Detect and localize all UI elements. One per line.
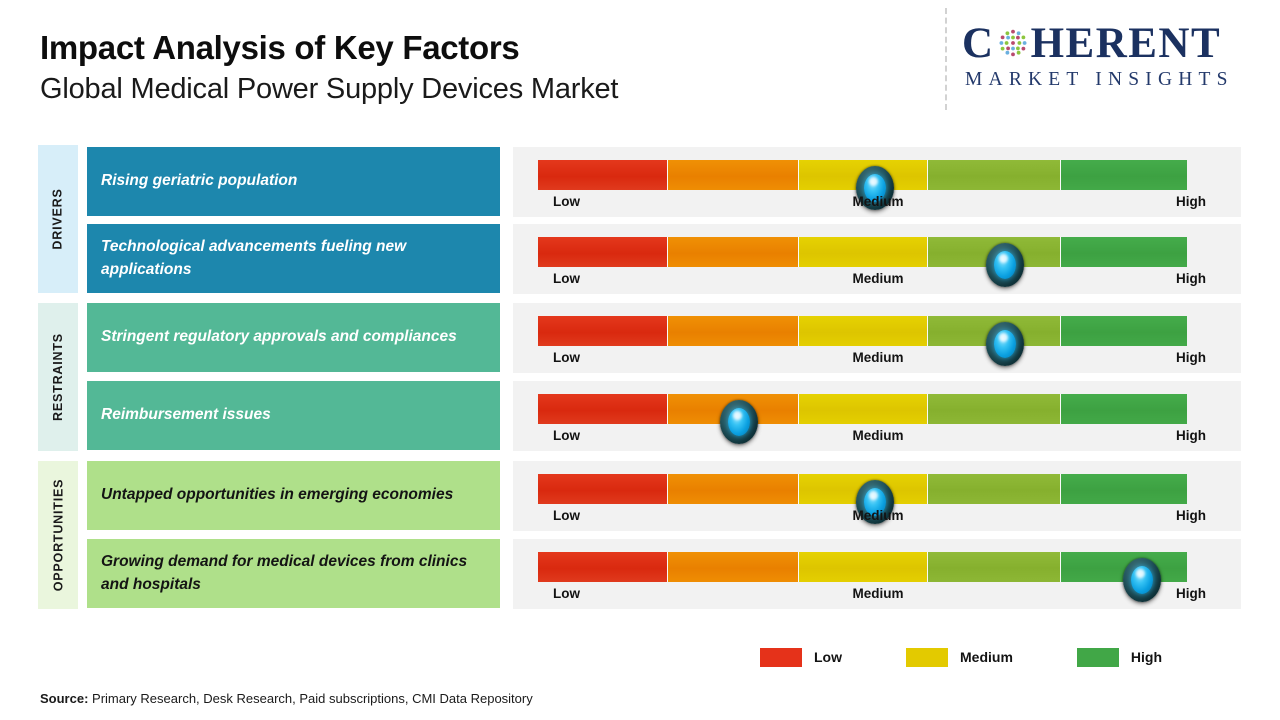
page-title: Impact Analysis of Key Factors <box>40 30 618 67</box>
gauge-scale: Low Medium High <box>538 508 1218 528</box>
header: Impact Analysis of Key Factors Global Me… <box>0 0 1280 130</box>
gauge-segment-olive <box>927 394 1060 424</box>
category-label-opportunities: OPPORTUNITIES <box>51 479 65 592</box>
gauge-segment-green <box>1060 160 1187 190</box>
factor-label: Stringent regulatory approvals and compl… <box>101 326 457 348</box>
gauge-segment-yellow <box>798 237 927 267</box>
scale-label-high: High <box>1176 350 1206 365</box>
gauge-segment-orange <box>667 237 798 267</box>
gauge-segment-green <box>1060 474 1187 504</box>
gauge-segment-orange <box>667 160 798 190</box>
logo-wordmark: C <box>962 22 1262 65</box>
gauge-bar[interactable] <box>538 160 1187 190</box>
gauge-bar[interactable] <box>538 316 1187 346</box>
legend-swatch-medium <box>906 648 948 667</box>
gauge-panel: Low Medium High <box>513 539 1241 609</box>
scale-label-high: High <box>1176 194 1206 209</box>
factor-box[interactable]: Stringent regulatory approvals and compl… <box>87 303 500 372</box>
gauge-panel: Low Medium High <box>513 461 1241 531</box>
scale-label-high: High <box>1176 428 1206 443</box>
scale-label-medium: Medium <box>538 428 1218 443</box>
scale-label-medium: Medium <box>538 271 1218 286</box>
gauge-segment-yellow <box>798 160 927 190</box>
gauge-panel: Low Medium High <box>513 224 1241 294</box>
legend: Low Medium High <box>760 645 1220 669</box>
logo-tagline: MARKET INSIGHTS <box>962 69 1262 91</box>
legend-item-medium: Medium <box>906 648 1013 667</box>
gauge-scale: Low Medium High <box>538 271 1218 291</box>
scale-label-high: High <box>1176 586 1206 601</box>
legend-swatch-low <box>760 648 802 667</box>
category-label-drivers: DRIVERS <box>51 188 65 249</box>
gauge-bar[interactable] <box>538 394 1187 424</box>
source-label: Source: <box>40 691 88 706</box>
gauge-bar[interactable] <box>538 237 1187 267</box>
gauge-segment-red <box>538 316 667 346</box>
factor-box[interactable]: Rising geriatric population <box>87 147 500 216</box>
scale-label-high: High <box>1176 508 1206 523</box>
gauge-segment-olive <box>927 552 1060 582</box>
gauge-scale: Low Medium High <box>538 194 1218 214</box>
scale-label-medium: Medium <box>538 194 1218 209</box>
factor-label: Rising geriatric population <box>101 170 297 192</box>
gauge-bar[interactable] <box>538 552 1187 582</box>
gauge-segment-olive <box>927 316 1060 346</box>
factor-box[interactable]: Reimbursement issues <box>87 381 500 450</box>
header-dashed-divider <box>945 8 947 110</box>
gauge-segment-olive <box>927 237 1060 267</box>
gauge-segment-green <box>1060 316 1187 346</box>
scale-label-medium: Medium <box>538 350 1218 365</box>
scale-label-medium: Medium <box>538 508 1218 523</box>
gauge-panel: Low Medium High <box>513 303 1241 373</box>
source-note: Source: Primary Research, Desk Research,… <box>40 691 533 706</box>
gauge-segment-orange <box>667 316 798 346</box>
gauge-segment-green <box>1060 552 1187 582</box>
gauge-segment-orange <box>667 394 798 424</box>
gauge-segment-yellow <box>798 394 927 424</box>
gauge-segment-green <box>1060 237 1187 267</box>
gauge-segment-red <box>538 237 667 267</box>
legend-label-medium: Medium <box>960 649 1013 665</box>
gauge-segment-green <box>1060 394 1187 424</box>
gauge-segment-red <box>538 394 667 424</box>
impact-matrix: DRIVERS RESTRAINTS OPPORTUNITIES Rising … <box>0 140 1280 610</box>
gauge-segment-olive <box>927 160 1060 190</box>
legend-item-high: High <box>1077 648 1162 667</box>
factor-box[interactable]: Growing demand for medical devices from … <box>87 539 500 608</box>
gauge-scale: Low Medium High <box>538 586 1218 606</box>
coherent-market-insights-logo: C <box>962 22 1262 104</box>
gauge-segment-yellow <box>798 552 927 582</box>
globe-icon <box>996 25 1030 59</box>
gauge-segment-red <box>538 474 667 504</box>
legend-label-high: High <box>1131 649 1162 665</box>
scale-label-high: High <box>1176 271 1206 286</box>
page-subtitle: Global Medical Power Supply Devices Mark… <box>40 72 618 107</box>
gauge-panel: Low Medium High <box>513 147 1241 217</box>
gauge-segment-yellow <box>798 316 927 346</box>
factor-label: Technological advancements fueling new a… <box>101 236 486 281</box>
category-label-restraints: RESTRAINTS <box>51 333 65 421</box>
gauge-segment-red <box>538 552 667 582</box>
factor-label: Untapped opportunities in emerging econo… <box>101 484 453 506</box>
factor-label: Reimbursement issues <box>101 404 271 426</box>
logo-letters-herent: HERENT <box>1031 22 1222 65</box>
legend-item-low: Low <box>760 648 842 667</box>
gauge-segment-yellow <box>798 474 927 504</box>
factor-box[interactable]: Technological advancements fueling new a… <box>87 224 500 293</box>
gauge-segment-red <box>538 160 667 190</box>
category-strip-opportunities: OPPORTUNITIES <box>38 461 78 609</box>
factor-box[interactable]: Untapped opportunities in emerging econo… <box>87 461 500 530</box>
title-block: Impact Analysis of Key Factors Global Me… <box>40 30 618 107</box>
category-strip-restraints: RESTRAINTS <box>38 303 78 451</box>
gauge-segment-orange <box>667 474 798 504</box>
factor-label: Growing demand for medical devices from … <box>101 551 486 596</box>
legend-label-low: Low <box>814 649 842 665</box>
gauge-bar[interactable] <box>538 474 1187 504</box>
gauge-segment-orange <box>667 552 798 582</box>
source-text: Primary Research, Desk Research, Paid su… <box>88 691 532 706</box>
category-strip-drivers: DRIVERS <box>38 145 78 293</box>
gauge-scale: Low Medium High <box>538 428 1218 448</box>
gauge-panel: Low Medium High <box>513 381 1241 451</box>
logo-letter-c: C <box>962 22 995 65</box>
legend-swatch-high <box>1077 648 1119 667</box>
scale-label-medium: Medium <box>538 586 1218 601</box>
gauge-segment-olive <box>927 474 1060 504</box>
gauge-scale: Low Medium High <box>538 350 1218 370</box>
